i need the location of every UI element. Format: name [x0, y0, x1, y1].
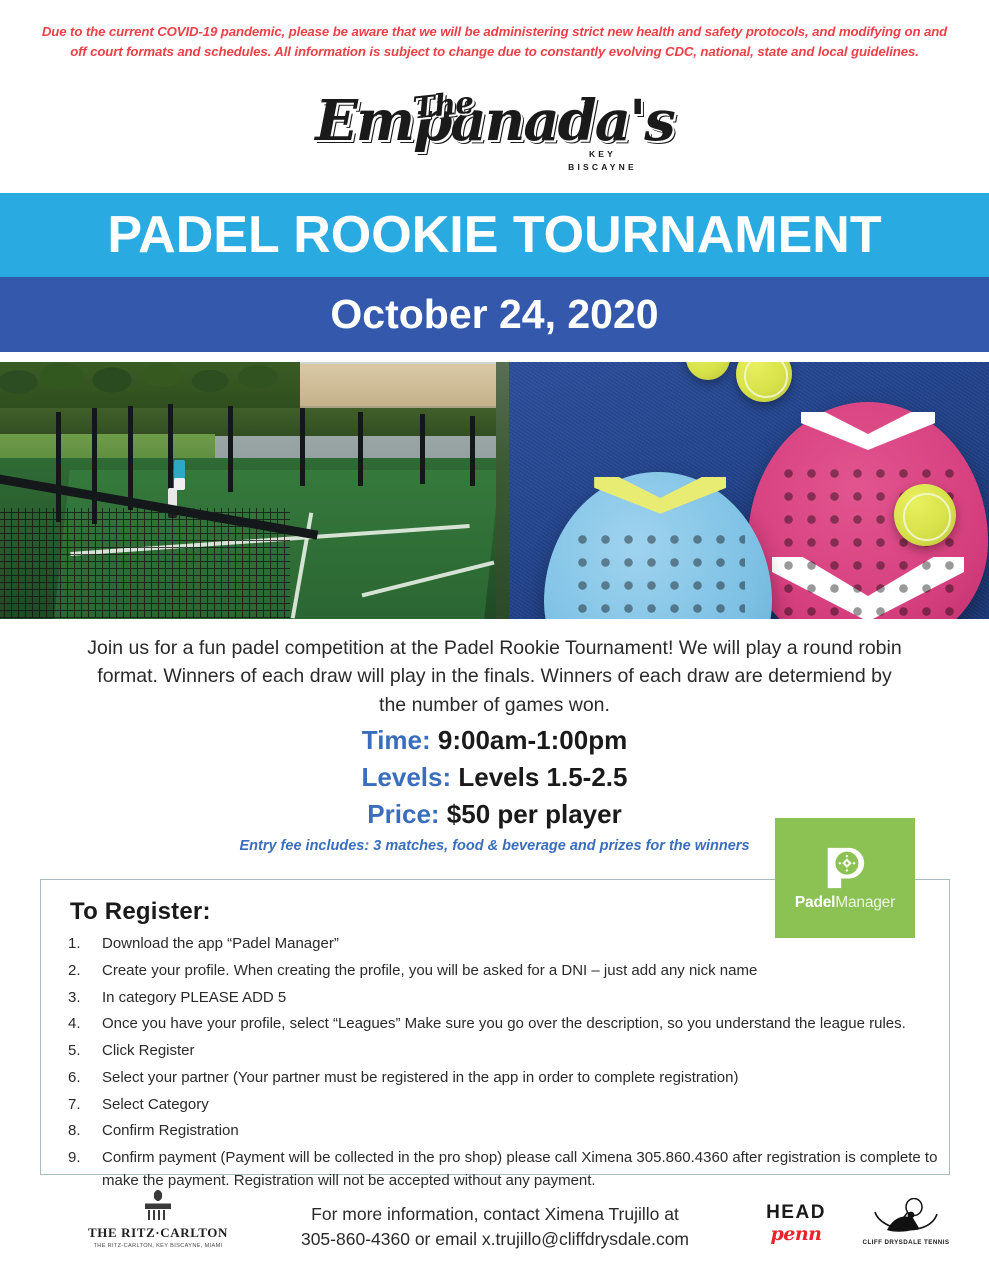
step-text: Once you have your profile, select “Leag… [102, 1012, 942, 1035]
step-number: 4. [62, 1012, 102, 1035]
detail-value-price: $50 per player [447, 799, 622, 829]
list-item: 4. Once you have your profile, select “L… [62, 1012, 942, 1035]
contact-line-2: 305-860-4360 or email x.trujillo@cliffdr… [255, 1227, 735, 1252]
contact-info: For more information, contact Ximena Tru… [255, 1202, 735, 1253]
ball-seam [903, 493, 950, 540]
event-details: Time: 9:00am-1:00pm Levels: Levels 1.5-2… [0, 722, 989, 833]
racket-holes [571, 528, 744, 619]
detail-value-time: 9:00am-1:00pm [438, 725, 627, 755]
contact-line-1: For more information, contact Ximena Tru… [255, 1202, 735, 1227]
padel-manager-logo: PadelManager [775, 818, 915, 938]
tournament-title: PADEL ROOKIE TOURNAMENT [107, 205, 881, 265]
empanadas-logo: The Empanada's KEY BISCAYNE [0, 78, 989, 178]
tennis-player-icon [873, 1198, 939, 1238]
padel-manager-icon [822, 844, 868, 890]
fence-post [168, 404, 173, 500]
fence-post [358, 412, 363, 486]
step-number: 2. [62, 959, 102, 982]
step-number: 5. [62, 1039, 102, 1062]
racket-chevron [594, 477, 726, 523]
ritz-carlton-logo: THE RITZ·CARLTON THE RITZ-CARLTON, KEY B… [88, 1188, 228, 1249]
step-number: 3. [62, 986, 102, 1009]
padel-courts-photo [0, 362, 496, 619]
turf-edge [496, 362, 509, 619]
tournament-title-band: PADEL ROOKIE TOURNAMENT [0, 193, 989, 277]
detail-row-levels: Levels: Levels 1.5-2.5 [0, 759, 989, 796]
fence-post [420, 414, 425, 484]
fence-post [228, 406, 233, 492]
head-wordmark: HEAD [748, 1202, 844, 1224]
padel-rackets-photo [496, 362, 989, 619]
step-number: 7. [62, 1093, 102, 1116]
player-figure [174, 478, 185, 490]
padel-manager-word-light: Manager [835, 894, 895, 911]
photo-strip [0, 362, 989, 619]
lion-crest-icon [145, 1188, 171, 1222]
footer: THE RITZ·CARLTON THE RITZ-CARLTON, KEY B… [0, 1180, 989, 1280]
padel-manager-word-bold: Padel [795, 894, 835, 911]
step-text: Select your partner (Your partner must b… [102, 1066, 942, 1089]
ball-seam [744, 362, 787, 398]
brand-location-line2: BISCAYNE [568, 161, 637, 174]
fence-post [470, 416, 475, 486]
fence-post [300, 408, 305, 486]
buildings [266, 364, 496, 406]
list-item: 3. In category PLEASE ADD 5 [62, 986, 942, 1009]
tournament-date-band: October 24, 2020 [0, 277, 989, 352]
step-text: Confirm Registration [102, 1119, 942, 1142]
step-number: 6. [62, 1066, 102, 1089]
step-text: Click Register [102, 1039, 942, 1062]
player-figure [174, 460, 185, 480]
sponsor-logos: HEAD penn CLIFF DRYSDALE TENNIS [740, 1194, 960, 1264]
tournament-date: October 24, 2020 [330, 291, 658, 338]
list-item: 2. Create your profile. When creating th… [62, 959, 942, 982]
fence-post [128, 406, 133, 510]
fence-post [56, 412, 61, 522]
step-number: 1. [62, 932, 102, 955]
intro-paragraph: Join us for a fun padel competition at t… [82, 634, 907, 719]
detail-label-time: Time: [362, 725, 431, 755]
head-penn-logo: HEAD penn [748, 1202, 844, 1245]
brand-the-text: The [412, 85, 476, 126]
brand-name-text: Empanada's [315, 88, 674, 154]
list-item: 6. Select your partner (Your partner mus… [62, 1066, 942, 1089]
step-number: 8. [62, 1119, 102, 1142]
padel-manager-wordmark: PadelManager [795, 894, 895, 912]
cliff-drysdale-wordmark: CLIFF DRYSDALE TENNIS [858, 1239, 954, 1246]
list-item: 8. Confirm Registration [62, 1119, 942, 1142]
list-item: 5. Click Register [62, 1039, 942, 1062]
detail-label-levels: Levels: [362, 762, 452, 792]
ritz-carlton-location: THE RITZ-CARLTON, KEY BISCAYNE, MIAMI [88, 1243, 228, 1249]
fence-post [92, 408, 97, 524]
covid-notice: Due to the current COVID-19 pandemic, pl… [40, 22, 949, 63]
cliff-drysdale-logo: CLIFF DRYSDALE TENNIS [858, 1198, 954, 1246]
list-item: 7. Select Category [62, 1093, 942, 1116]
detail-row-time: Time: 9:00am-1:00pm [0, 722, 989, 759]
step-text: In category PLEASE ADD 5 [102, 986, 942, 1009]
step-text: Select Category [102, 1093, 942, 1116]
detail-label-price: Price: [367, 799, 439, 829]
flyer-page: Due to the current COVID-19 pandemic, pl… [0, 0, 989, 1280]
register-heading: To Register: [70, 898, 211, 926]
penn-wordmark: penn [748, 1223, 844, 1245]
detail-value-levels: Levels 1.5-2.5 [458, 762, 627, 792]
racket-chevron [801, 412, 935, 462]
ritz-carlton-name: THE RITZ·CARLTON [88, 1225, 228, 1241]
register-steps-list: 1. Download the app “Padel Manager” 2. C… [62, 932, 942, 1196]
step-text: Create your profile. When creating the p… [102, 959, 942, 982]
tennis-ball [894, 484, 956, 546]
